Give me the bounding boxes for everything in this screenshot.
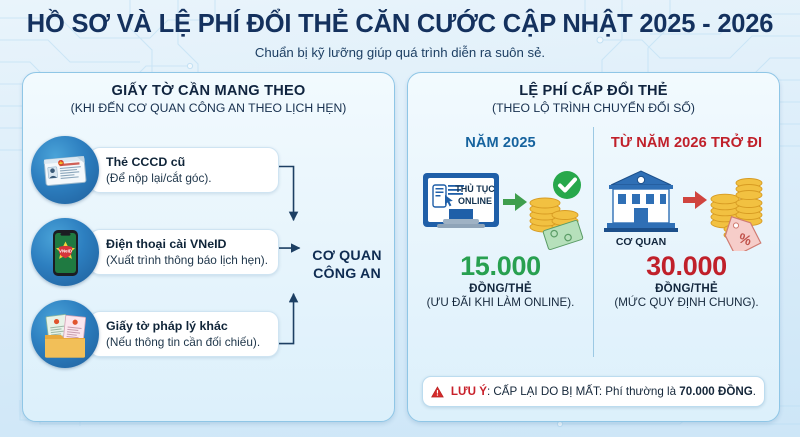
fee-amount: 30.000	[594, 253, 779, 280]
fee-column-heading: NĂM 2025	[408, 135, 593, 151]
fee-note: (ƯU ĐÃI KHI LÀM ONLINE).	[408, 296, 593, 309]
fee-column-heading: TỪ NĂM 2026 TRỞ ĐI	[594, 135, 779, 151]
documents-panel-subtitle: (KHI ĐẾN CƠ QUAN CÔNG AN THEO LỊCH HẸN)	[23, 101, 394, 115]
list-item-callout: Điện thoại cài VNeID (Xuất trình thông b…	[89, 229, 279, 275]
fee-columns: NĂM 2025	[408, 123, 779, 365]
fee-unit: ĐỒNG/THẺ	[408, 282, 593, 295]
list-item[interactable]: Thẻ CCCD cũ (Để nộp lại/cắt góc).	[23, 129, 281, 211]
fee-amount: 15.000	[408, 253, 593, 280]
fees-panel-header: LỆ PHÍ CẤP ĐỔI THẺ (THEO LỘ TRÌNH CHUYỂN…	[408, 73, 779, 115]
fee-note: (MỨC QUY ĐỊNH CHUNG).	[594, 296, 779, 309]
building-label: CƠ QUAN	[615, 236, 665, 248]
warning-label: LƯU Ý	[451, 385, 487, 398]
panels-row: GIẤY TỜ CẦN MANG THEO (KHI ĐẾN CƠ QUAN C…	[22, 72, 780, 422]
page-title: HỒ SƠ VÀ LỆ PHÍ ĐỔI THẺ CĂN CƯỚC CẬP NHẬ…	[0, 10, 800, 38]
documents-panel: GIẤY TỜ CẦN MANG THEO (KHI ĐẾN CƠ QUAN C…	[22, 72, 395, 422]
government-building-coins-tag-icon: CƠ QUAN	[594, 161, 779, 253]
page-subtitle: Chuẩn bị kỹ lưỡng giúp quá trình diễn ra…	[0, 45, 800, 60]
authority-node: CƠ QUAN CÔNG AN	[301, 248, 393, 284]
warning-text-after: .	[753, 385, 756, 398]
warning-text: LƯU Ý: CẤP LẠI DO BỊ MẤT: Phí thường là …	[451, 385, 756, 398]
documents-panel-title: GIẤY TỜ CẦN MANG THEO	[23, 83, 394, 99]
list-item-title: Giấy tờ pháp lý khác	[106, 319, 268, 335]
list-item[interactable]: VNeID Điện thoại cài VNeID (Xuất trình t…	[23, 211, 281, 293]
list-item-note: (Để nộp lại/cắt góc).	[106, 171, 268, 185]
fee-column-2025: NĂM 2025	[408, 123, 593, 365]
list-item-note: (Xuất trình thông báo lịch hẹn).	[106, 253, 268, 267]
monitor-online-coins-check-icon: THỦ TỤC ONLINE	[408, 161, 593, 253]
documents-folder-icon	[31, 300, 99, 368]
list-item[interactable]: Giấy tờ pháp lý khác (Nếu thông tin cần …	[23, 293, 281, 375]
list-item-title: Thẻ CCCD cũ	[106, 155, 268, 171]
documents-panel-header: GIẤY TỜ CẦN MANG THEO (KHI ĐẾN CƠ QUAN C…	[23, 73, 394, 115]
warning-bar: LƯU Ý: CẤP LẠI DO BỊ MẤT: Phí thường là …	[422, 376, 765, 407]
list-item-callout: Thẻ CCCD cũ (Để nộp lại/cắt góc).	[89, 147, 279, 193]
page-header: HỒ SƠ VÀ LỆ PHÍ ĐỔI THẺ CĂN CƯỚC CẬP NHẬ…	[0, 0, 800, 60]
warning-triangle-icon	[431, 382, 444, 402]
list-item-note: (Nếu thông tin cần đối chiếu).	[106, 335, 268, 349]
documents-list: Thẻ CCCD cũ (Để nộp lại/cắt góc). VNeID	[23, 129, 281, 375]
svg-text:VNeID: VNeID	[59, 249, 72, 254]
fee-column-2026: TỪ NĂM 2026 TRỞ ĐI	[594, 123, 779, 365]
warning-amount: 70.000 ĐỒNG	[679, 385, 752, 398]
monitor-screen-line2: ONLINE	[457, 196, 491, 206]
monitor-screen-line1: THỦ TỤC	[455, 183, 495, 194]
list-item-callout: Giấy tờ pháp lý khác (Nếu thông tin cần …	[89, 311, 279, 357]
fees-panel-title: LỆ PHÍ CẤP ĐỔI THẺ	[408, 83, 779, 99]
fees-panel: LỆ PHÍ CẤP ĐỔI THẺ (THEO LỘ TRÌNH CHUYỂN…	[407, 72, 780, 422]
fees-panel-subtitle: (THEO LỘ TRÌNH CHUYỂN ĐỔI SỐ)	[408, 101, 779, 115]
warning-text-before: : CẤP LẠI DO BỊ MẤT: Phí thường là	[487, 385, 679, 398]
list-item-title: Điện thoại cài VNeID	[106, 237, 268, 253]
phone-vneid-icon: VNeID	[31, 218, 99, 286]
fee-unit: ĐỒNG/THẺ	[594, 282, 779, 295]
id-card-icon	[31, 136, 99, 204]
